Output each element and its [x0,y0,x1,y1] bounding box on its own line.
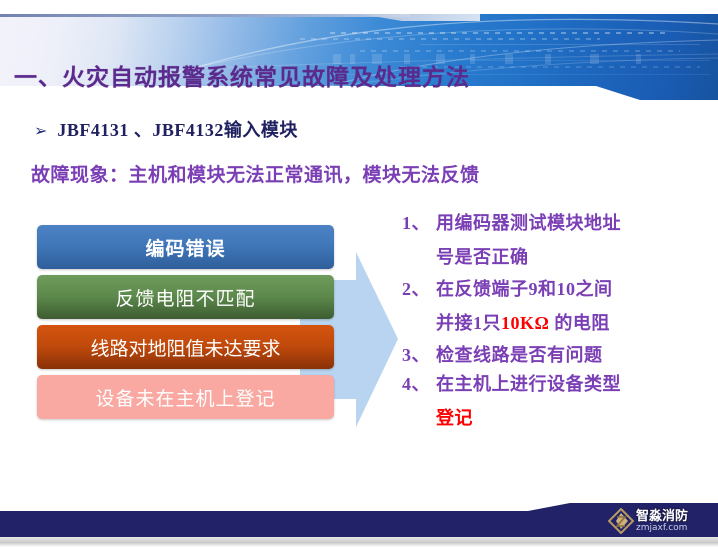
solution-text-continued: 并接1只 [436,313,501,333]
slide-header-banner: 一、火灾自动报警系统常见故障及处理方法 [0,14,718,100]
brand-logo-text: 智淼消防 zmjaxf.com [636,510,688,533]
cause-box-feedback-resistor[interactable]: 反馈电阻不匹配 [37,275,334,319]
module-model-label: JBF4131 、JBF4132输入模块 [57,116,298,142]
page-title: 一、火灾自动报警系统常见故障及处理方法 [14,58,470,92]
cause-label: 线路对地阻值未达要求 [90,334,280,361]
solution-number: 2、 [402,280,436,298]
footer-bottom-shadow [0,537,718,547]
cause-box-coding-error[interactable]: 编码错误 [37,225,334,269]
solution-text: 检查线路是否有问题 [436,346,702,364]
solution-step-2: 2、 在反馈端子9和10之间 [402,280,702,298]
register-action-highlight: 登记 [436,408,473,428]
banner-texture-block [470,54,475,64]
banner-texture-block [505,54,513,64]
arrow-bullet-icon: ➢ [34,123,47,139]
subtitle-bullet-row: ➢ JBF4131 、JBF4132输入模块 [34,116,298,142]
brand-url: zmjaxf.com [636,524,688,533]
fault-symptom-text: 故障现象：主机和模块无法正常通讯，模块无法反馈 [31,160,480,187]
solution-step-list: 1、 用编码器测试模块地址 号是否正确 2、 在反馈端子9和10之间 并接1只1… [402,214,702,441]
solution-text: 在反馈端子9和10之间 [436,280,702,298]
solution-step-3: 3、 检查线路是否有问题 [402,346,702,364]
cause-box-ground-resistance[interactable]: 线路对地阻值未达要求 [37,325,334,369]
solution-number: 3、 [402,346,436,364]
cause-label: 反馈电阻不匹配 [115,284,255,311]
solution-step-1-continued: 号是否正确 [402,243,702,269]
banner-texture-block [636,54,641,64]
solution-text: 在主机上进行设备类型 [436,375,702,393]
banner-texture-dash [330,32,670,34]
resistance-value-highlight: 10KΩ [501,313,549,333]
solution-text-tail: 的电阻 [549,313,610,333]
solution-text-continued: 号是否正确 [436,247,529,267]
banner-texture-dash [300,38,600,40]
banner-texture-block [590,54,599,64]
diamond-monogram-icon [608,508,634,534]
solution-step-1: 1、 用编码器测试模块地址 [402,214,702,232]
brand-logo[interactable]: 智淼消防 zmjaxf.com [608,506,712,536]
solution-number: 4、 [402,375,436,393]
cause-label: 编码错误 [145,234,225,261]
banner-top-edge-rim [0,14,410,17]
solution-step-2-continued: 并接1只10KΩ 的电阻 [402,309,702,335]
banner-texture-line [420,44,700,45]
cause-box-not-registered[interactable]: 设备未在主机上登记 [37,375,334,419]
banner-texture-dash [360,50,680,52]
solution-text: 用编码器测试模块地址 [436,214,702,232]
solution-step-4-continued: 登记 [402,404,702,430]
brand-name-cn: 智淼消防 [636,510,688,523]
banner-texture-block [545,54,551,64]
solution-step-4: 4、 在主机上进行设备类型 [402,375,702,393]
solution-number: 1、 [402,214,436,232]
fault-cause-list: 编码错误 反馈电阻不匹配 线路对地阻值未达要求 设备未在主机上登记 [37,225,334,425]
cause-label: 设备未在主机上登记 [95,384,275,411]
